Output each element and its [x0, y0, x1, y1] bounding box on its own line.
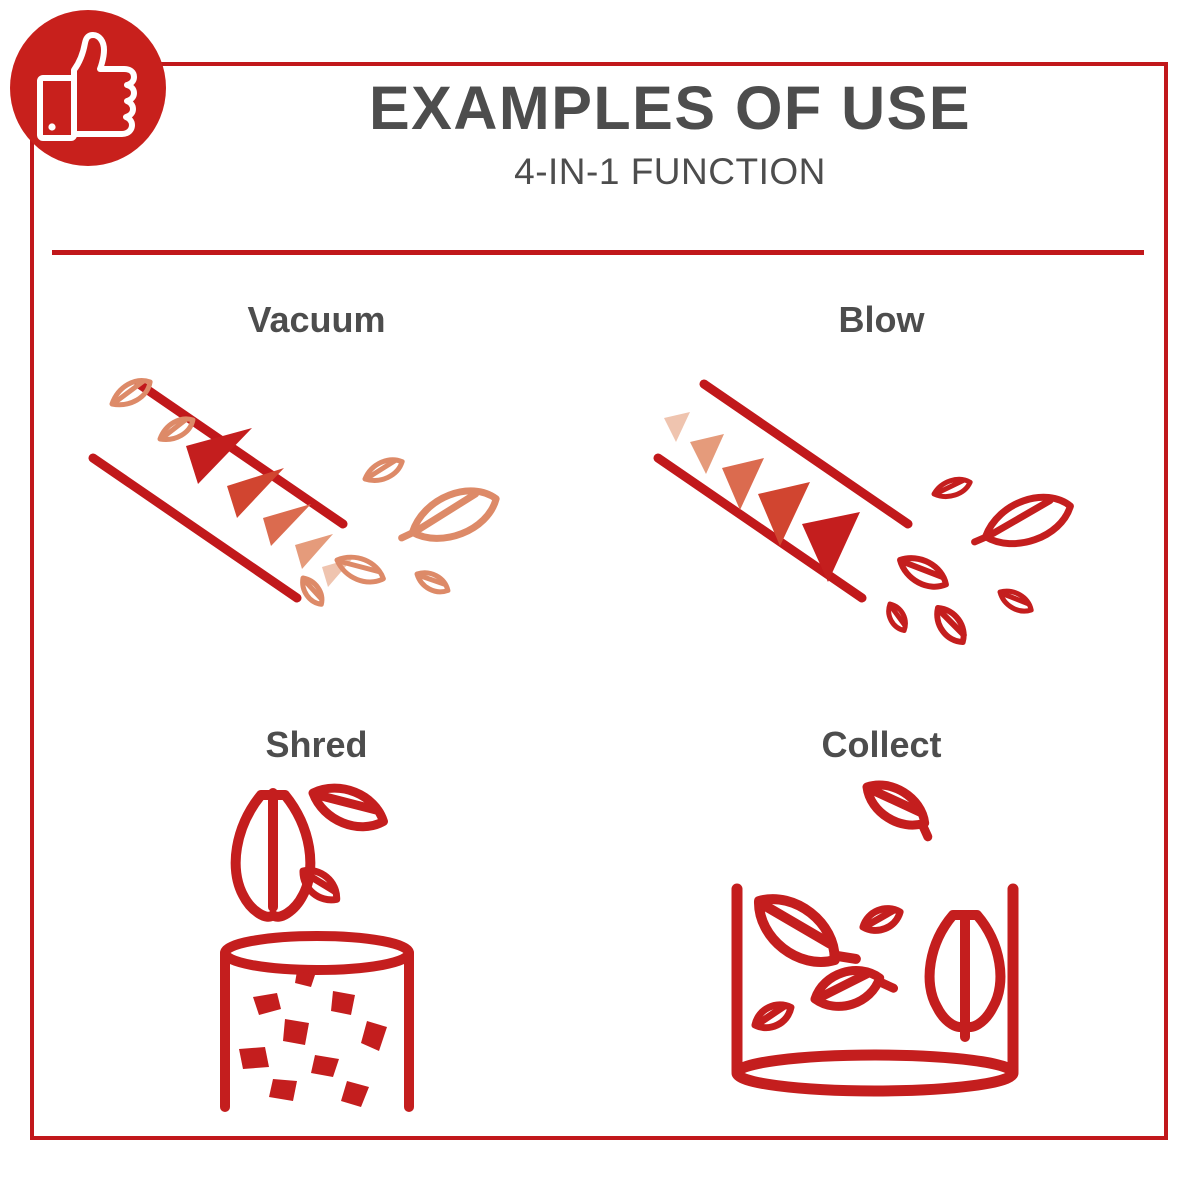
- shred-bin: [225, 936, 409, 1107]
- collect-illustration: [717, 771, 1047, 1116]
- panel-label-blow: Blow: [839, 302, 925, 338]
- panel-label-shred: Shred: [265, 727, 367, 763]
- panel-vacuum: Vacuum: [34, 280, 599, 705]
- thumbs-up-icon: [10, 10, 166, 166]
- thumbs-up-badge: [10, 10, 166, 166]
- panel-art-shred: [167, 771, 467, 1116]
- panel-art-vacuum: [87, 346, 547, 686]
- panel-label-collect: Collect: [821, 727, 941, 763]
- shred-leaves: [235, 778, 389, 917]
- title-divider: [52, 250, 1144, 255]
- title-block: EXAMPLES OF USE 4-IN-1 FUNCTION: [190, 78, 1150, 190]
- page-title: EXAMPLES OF USE: [190, 78, 1150, 139]
- vacuum-arrows: [186, 428, 353, 587]
- shred-fragments: [239, 971, 387, 1107]
- panel-label-vacuum: Vacuum: [247, 302, 385, 338]
- blow-illustration: [652, 346, 1112, 686]
- panel-shred: Shred: [34, 705, 599, 1130]
- poster-root: EXAMPLES OF USE 4-IN-1 FUNCTION Vacuum: [0, 0, 1200, 1200]
- panel-blow: Blow: [599, 280, 1164, 705]
- panel-art-blow: [652, 346, 1112, 686]
- shred-illustration: [167, 771, 467, 1116]
- collect-entering-leaf: [859, 774, 941, 841]
- blow-leaves: [884, 475, 1077, 648]
- collect-leaves: [745, 883, 1000, 1037]
- panel-grid: Vacuum: [34, 280, 1164, 1130]
- page-subtitle: 4-IN-1 FUNCTION: [190, 153, 1150, 190]
- vacuum-tube: [93, 384, 343, 598]
- vacuum-leaves: [107, 374, 503, 608]
- panel-art-collect: [717, 771, 1047, 1116]
- blow-arrows: [664, 412, 860, 582]
- vacuum-illustration: [87, 346, 547, 686]
- panel-collect: Collect: [599, 705, 1164, 1130]
